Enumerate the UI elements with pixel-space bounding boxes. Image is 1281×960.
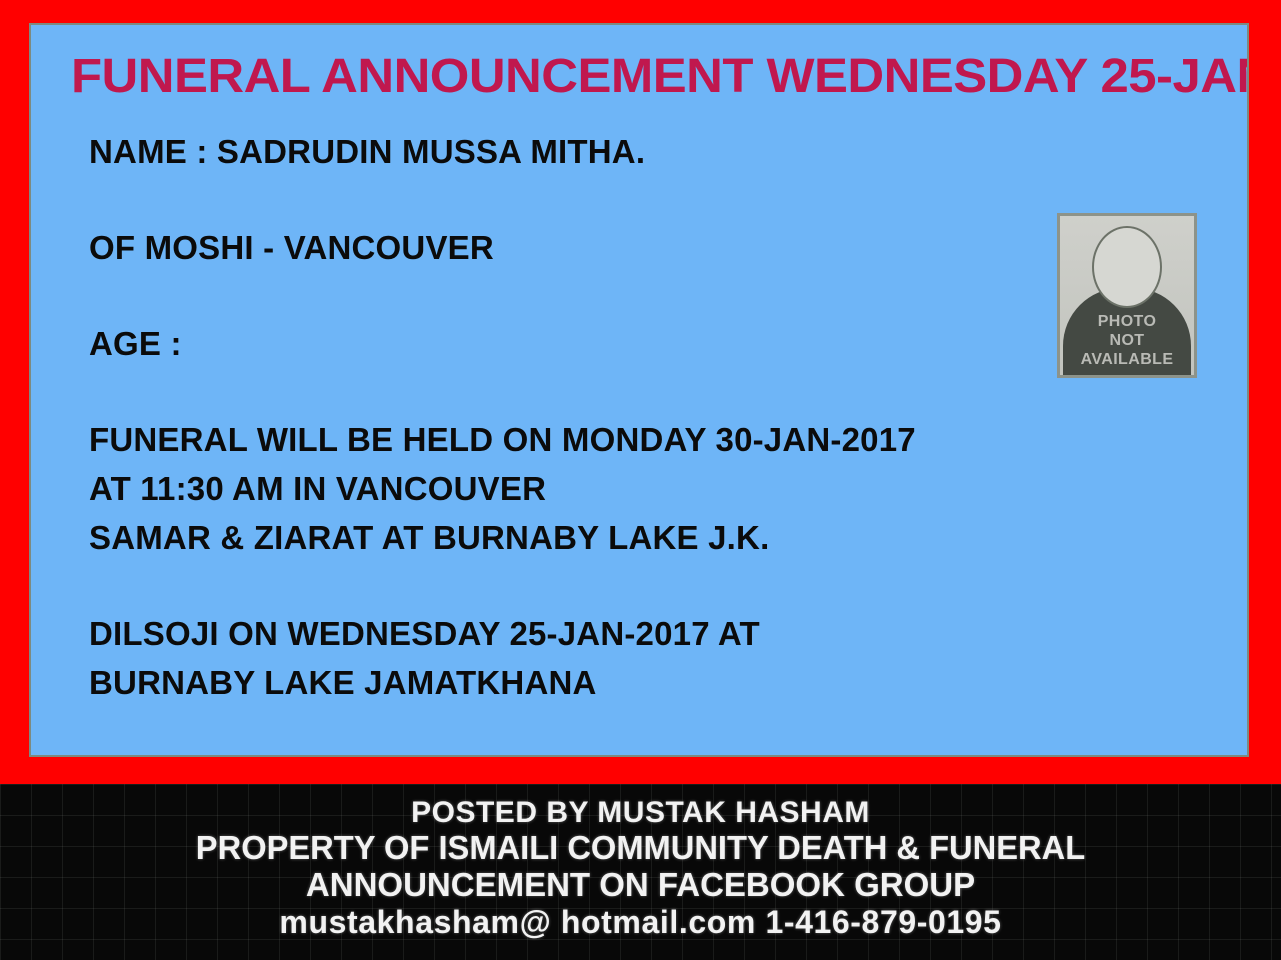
samar-ziarat-line: SAMAR & ZIARAT AT BURNABY LAKE J.K. xyxy=(89,513,1209,562)
photo-placeholder: PHOTO NOT AVAILABLE xyxy=(1057,213,1197,378)
announcement-body: NAME : SADRUDIN MUSSA MITHA. OF MOSHI - … xyxy=(89,127,1209,707)
paragraph-age: AGE : xyxy=(89,319,1209,368)
photo-caption-line-1: PHOTO xyxy=(1060,312,1194,331)
photo-caption-line-3: AVAILABLE xyxy=(1060,350,1194,369)
dilsoji-venue-line: BURNABY LAKE JAMATKHANA xyxy=(89,658,1209,707)
photo-caption: PHOTO NOT AVAILABLE xyxy=(1060,312,1194,369)
paragraph-dilsoji: DILSOJI ON WEDNESDAY 25-JAN-2017 AT BURN… xyxy=(89,609,1209,707)
photo-caption-line-2: NOT xyxy=(1060,331,1194,350)
footer-posted-by: POSTED BY MUSTAK HASHAM xyxy=(0,796,1281,830)
footer-credits-bar: POSTED BY MUSTAK HASHAM PROPERTY OF ISMA… xyxy=(0,784,1281,960)
funeral-date-line: FUNERAL WILL BE HELD ON MONDAY 30-JAN-20… xyxy=(89,415,1209,464)
paragraph-name: NAME : SADRUDIN MUSSA MITHA. xyxy=(89,127,1209,176)
footer-group-line: ANNOUNCEMENT ON FACEBOOK GROUP xyxy=(0,867,1281,903)
age-line: AGE : xyxy=(89,319,1209,368)
name-line: NAME : SADRUDIN MUSSA MITHA. xyxy=(89,127,1209,176)
announcement-panel: FUNERAL ANNOUNCEMENT WEDNESDAY 25-JAN-20… xyxy=(29,23,1249,757)
announcement-title: FUNERAL ANNOUNCEMENT WEDNESDAY 25-JAN-20… xyxy=(71,51,1249,103)
funeral-announcement-poster: FUNERAL ANNOUNCEMENT WEDNESDAY 25-JAN-20… xyxy=(0,0,1281,960)
dilsoji-date-line: DILSOJI ON WEDNESDAY 25-JAN-2017 AT xyxy=(89,609,1209,658)
paragraph-funeral-details: FUNERAL WILL BE HELD ON MONDAY 30-JAN-20… xyxy=(89,415,1209,562)
paragraph-origin: OF MOSHI - VANCOUVER xyxy=(89,223,1209,272)
origin-line: OF MOSHI - VANCOUVER xyxy=(89,223,1209,272)
avatar-head-shape xyxy=(1092,226,1162,308)
funeral-time-line: AT 11:30 AM IN VANCOUVER xyxy=(89,464,1209,513)
footer-property-line: PROPERTY OF ISMAILI COMMUNITY DEATH & FU… xyxy=(6,830,1274,866)
footer-contact-line: mustakhasham@ hotmail.com 1-416-879-0195 xyxy=(0,904,1281,940)
person-silhouette-icon: PHOTO NOT AVAILABLE xyxy=(1060,216,1194,375)
